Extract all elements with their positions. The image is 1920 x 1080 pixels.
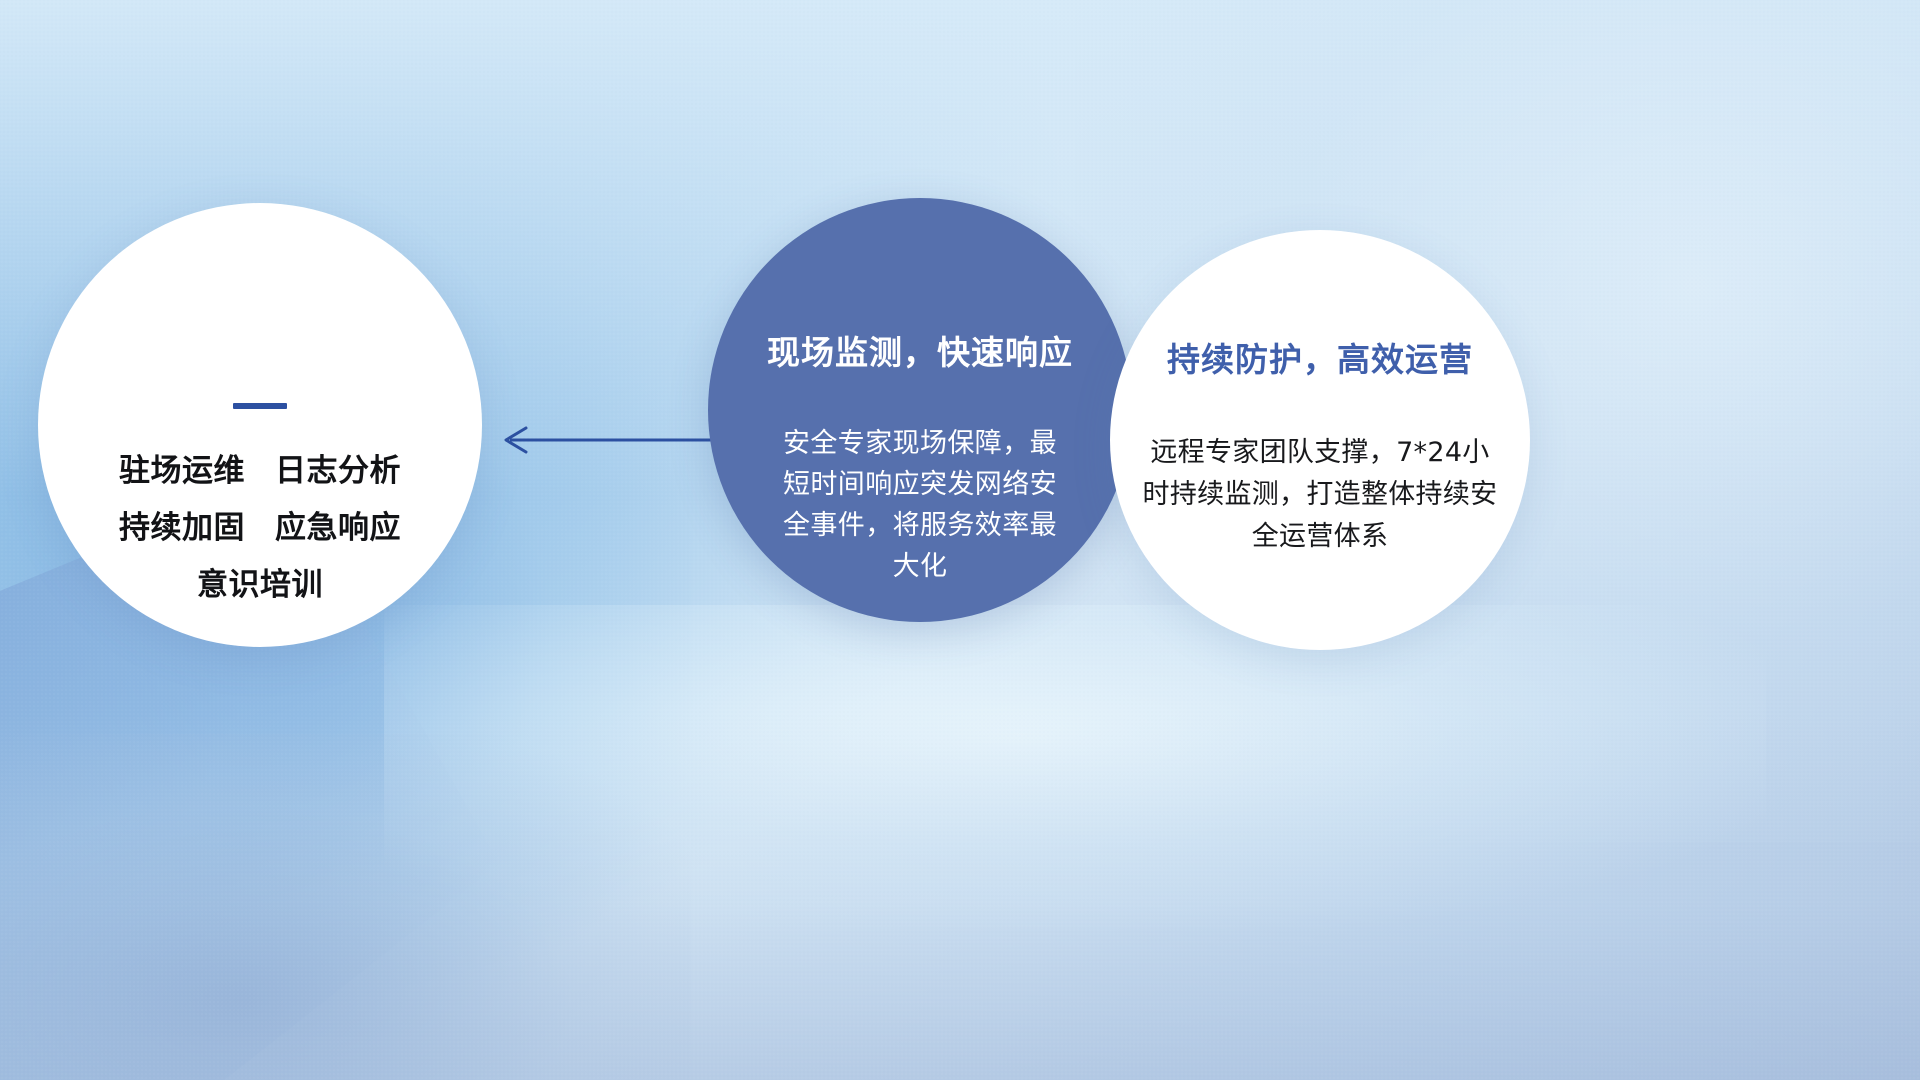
slide-canvas: 驻场运维 日志分析 持续加固 应急响应 意识培训 现场监测，快速响应 安全专家现… (0, 0, 1920, 1080)
onsite-monitoring-content: 现场监测，快速响应 安全专家现场保障，最短时间响应突发网络安全事件，将服务效率最… (708, 198, 1132, 622)
capability-keyword: 驻场运维 (119, 456, 245, 487)
capability-keyword: 持续加固 (119, 513, 245, 544)
capability-keyword-row: 意识培训 (38, 570, 482, 601)
capability-keyword-row: 持续加固 应急响应 (38, 513, 482, 544)
accent-dash-divider (233, 403, 287, 409)
continuous-protection-title: 持续防护，高效运营 (1167, 343, 1473, 376)
capability-keyword: 日志分析 (275, 456, 401, 487)
onsite-monitoring-title: 现场监测，快速响应 (767, 336, 1073, 369)
capability-keyword: 意识培训 (197, 570, 323, 601)
onsite-monitoring-circle[interactable]: 现场监测，快速响应 安全专家现场保障，最短时间响应突发网络安全事件，将服务效率最… (708, 198, 1132, 622)
onsite-monitoring-body: 安全专家现场保障，最短时间响应突发网络安全事件，将服务效率最大化 (777, 423, 1063, 587)
continuous-protection-circle[interactable]: 持续防护，高效运营 远程专家团队支撑，7*24小时持续监测，打造整体持续安全运营… (1110, 230, 1530, 650)
capability-circle[interactable]: 驻场运维 日志分析 持续加固 应急响应 意识培训 (38, 203, 482, 647)
continuous-protection-body: 远程专家团队支撑，7*24小时持续监测，打造整体持续安全运营体系 (1142, 432, 1498, 558)
capability-keyword-row: 驻场运维 日志分析 (38, 456, 482, 487)
capability-keyword: 应急响应 (275, 513, 401, 544)
continuous-protection-content: 持续防护，高效运营 远程专家团队支撑，7*24小时持续监测，打造整体持续安全运营… (1110, 230, 1530, 650)
capability-circle-content: 驻场运维 日志分析 持续加固 应急响应 意识培训 (38, 203, 482, 647)
capability-keyword-list: 驻场运维 日志分析 持续加固 应急响应 意识培训 (38, 456, 482, 601)
